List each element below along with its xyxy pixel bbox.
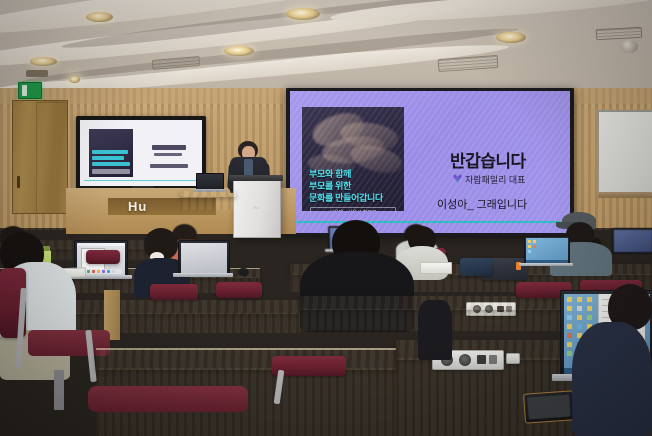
slide-photo-line2: 부모를 위한 — [309, 181, 351, 192]
chair-back[interactable] — [216, 282, 262, 298]
smartphone[interactable] — [523, 390, 575, 423]
jaram-family-logo-icon — [453, 174, 462, 183]
laptop-lid — [612, 228, 652, 254]
whiteboard[interactable] — [597, 110, 652, 196]
usb-dongle[interactable] — [506, 353, 520, 364]
laptop-lid — [178, 240, 230, 276]
desktop-icon[interactable] — [528, 240, 531, 243]
monitor-accent-rule — [84, 180, 198, 181]
laptop-screen — [181, 243, 227, 273]
wall-sign-text: Hu — [128, 199, 147, 214]
monitor-presenter — [150, 164, 188, 168]
bottle-cap — [43, 246, 50, 251]
desktop-icon[interactable] — [567, 342, 572, 347]
menu-bar — [77, 243, 125, 246]
ceiling-downlight — [86, 12, 113, 22]
dock-icon[interactable] — [92, 270, 95, 273]
ceiling-downlight — [286, 8, 320, 20]
slide-photo-line3: 문화를 만들어갑니다 — [309, 193, 383, 204]
laptop-deck — [519, 263, 573, 266]
monitor-photo-text — [92, 162, 130, 166]
slide-photo-panel: 부모와 함께 부모를 위한 문화를 만들어갑니다 서울대 · 서울시 학부모 — [302, 107, 404, 211]
hands-illustration — [307, 152, 355, 178]
desktop-icon[interactable] — [567, 351, 572, 356]
slide-title: 반갑습니다 — [450, 147, 526, 172]
monitor-photo-text — [92, 156, 124, 160]
chair-back[interactable] — [150, 284, 198, 300]
desktop-icon[interactable] — [577, 306, 582, 311]
whiteboard-tray — [598, 192, 652, 198]
laptop-screen — [526, 238, 568, 264]
desktop-icon[interactable] — [587, 297, 592, 302]
door-panel — [36, 102, 68, 214]
chair-post — [54, 370, 64, 410]
ceiling-speaker — [620, 40, 638, 53]
dock-icon[interactable] — [112, 270, 115, 273]
hands-illustration — [348, 140, 404, 177]
slide-presenter: 이성아_ 그래입니다 — [437, 196, 527, 212]
slide-accent-rule — [290, 221, 570, 223]
dock-icon[interactable] — [102, 270, 105, 273]
monitor-screen — [80, 120, 202, 186]
door-handle[interactable] — [17, 176, 20, 188]
desk-edge — [96, 348, 396, 350]
front-teacher-desk-front — [180, 196, 236, 210]
dock-icon[interactable] — [97, 270, 100, 273]
desktop-icon[interactable] — [577, 324, 582, 329]
papers — [420, 262, 452, 274]
projected-slide: 부모와 함께 부모를 위한 문화를 만들어갑니다 서울대 · 서울시 학부모 반… — [290, 91, 570, 233]
slide-photo-caption: 서울대 · 서울시 학부모 — [310, 207, 396, 211]
wall-monitor — [76, 116, 206, 194]
desktop-icon[interactable] — [587, 315, 592, 320]
podium-top — [229, 175, 283, 181]
desktop-icon[interactable] — [533, 245, 536, 248]
desktop-icon[interactable] — [528, 250, 531, 253]
slide-organization: 자람패밀리 대표 — [465, 173, 525, 186]
laptop-deck — [173, 273, 233, 277]
laptop-bag — [460, 258, 492, 276]
podium-logo: Hu — [239, 205, 273, 210]
monitor-photo-caption — [92, 169, 130, 174]
desktop-icon[interactable] — [528, 245, 531, 248]
desktop-icon[interactable] — [587, 306, 592, 311]
desktop-icon[interactable] — [533, 240, 536, 243]
monitor-title — [152, 145, 186, 150]
laptop-lid — [524, 236, 570, 266]
hands-illustration — [338, 118, 400, 154]
outlet-switch[interactable] — [477, 355, 486, 364]
ceiling-downlight — [496, 32, 526, 43]
exit-sign — [18, 82, 42, 99]
desktop-icon[interactable] — [577, 297, 582, 302]
projection-screen-frame: 부모와 함께 부모를 위한 문화를 만들어갑니다 서울대 · 서울시 학부모 반… — [286, 88, 574, 236]
attendee-torso — [572, 322, 652, 436]
desktop-icon[interactable] — [567, 333, 572, 338]
desktop-icon[interactable] — [567, 306, 572, 311]
hands-illustration — [321, 134, 385, 166]
desktop-icon[interactable] — [567, 324, 572, 329]
laptop-screen — [614, 230, 652, 252]
outlet-switch[interactable] — [489, 355, 497, 364]
dock-icon[interactable] — [87, 270, 90, 273]
monitor-photo-text — [92, 150, 128, 154]
outlet-socket[interactable] — [459, 354, 471, 366]
lecture-hall-scene: 부모와 함께 부모를 위한 문화를 만들어갑니다 서울대 · 서울시 학부모 반… — [0, 0, 652, 436]
ceiling-downlight — [224, 46, 254, 56]
attendee-arm — [418, 300, 452, 360]
slide-photo-line1: 부모와 함께 — [309, 169, 351, 180]
computer-mouse[interactable] — [238, 268, 249, 276]
chair-seat[interactable] — [88, 386, 248, 412]
phone-screen[interactable] — [527, 395, 570, 420]
chair-back[interactable] — [86, 250, 120, 264]
exit-sign-mount — [26, 70, 48, 77]
desktop-icon[interactable] — [567, 297, 572, 302]
desktop-icon[interactable] — [567, 315, 572, 320]
ceiling-downlight — [30, 57, 57, 66]
hands-illustration — [309, 108, 367, 151]
ceiling-downlight — [69, 76, 80, 83]
dock-icon[interactable] — [107, 270, 110, 273]
desktop-icon[interactable] — [577, 315, 582, 320]
desk-row-d — [96, 348, 396, 370]
dock — [80, 269, 122, 274]
monitor-org — [154, 153, 182, 156]
